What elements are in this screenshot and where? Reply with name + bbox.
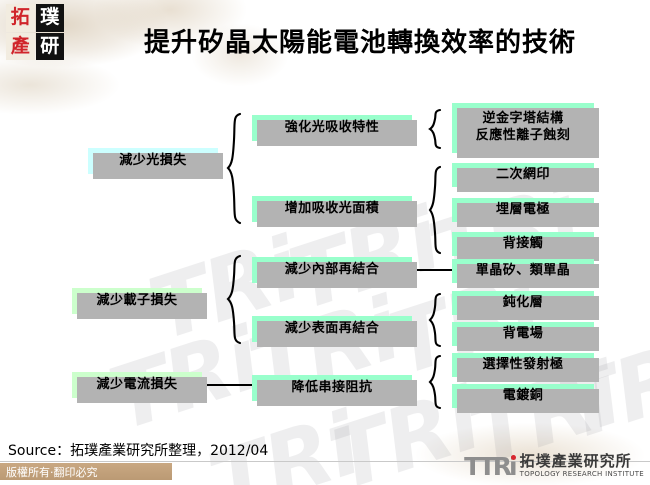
- node-reduce-carrier-loss[interactable]: 減少載子損失: [72, 288, 202, 314]
- brace-surface-recombination-group: [428, 292, 444, 348]
- node-buried-contact[interactable]: 埋層電極: [452, 198, 594, 222]
- tri-mark: TTRi: [464, 454, 515, 479]
- source-note: Source：拓璞產業研究所整理，2012/04: [8, 440, 268, 460]
- logo-cell-1: 拓: [6, 4, 35, 32]
- brace-absorption-area-group: [428, 165, 444, 255]
- node-reduce-series-resistance[interactable]: 降低串接阻抗: [252, 375, 412, 401]
- background-wash-top: [0, 0, 430, 120]
- node-line-1: 逆金字塔結構: [482, 111, 563, 128]
- tri-wordmark: 拓墣產業研究所 TOPOLOGY RESEARCH INSTITUTE: [520, 454, 644, 478]
- node-reduce-light-loss[interactable]: 減少光損失: [88, 148, 218, 174]
- node-reduce-bulk-recombination[interactable]: 減少內部再結合: [252, 257, 412, 283]
- connector-bulk-recombination: [413, 269, 453, 271]
- node-back-contact[interactable]: 背接觸: [452, 232, 594, 256]
- node-double-screen-print[interactable]: 二次網印: [452, 163, 594, 187]
- node-passivation-layer[interactable]: 鈍化層: [452, 291, 594, 315]
- brace-series-resistance-group: [428, 354, 444, 410]
- brace-carrier-loss: [226, 254, 244, 345]
- tri-mark-text: TTRi: [464, 452, 515, 481]
- node-increase-absorption-area[interactable]: 增加吸收光面積: [252, 196, 412, 222]
- node-mono-quasi-mono[interactable]: 單晶矽、類單晶: [452, 259, 594, 283]
- node-selective-emitter[interactable]: 選擇性發射極: [452, 353, 594, 377]
- tri-corner-logo: 拓 璞 產 研: [6, 4, 64, 60]
- node-line-2: 反應性離子蝕刻: [476, 128, 571, 145]
- copyright-banner: 版權所有‧翻印必究: [0, 463, 172, 480]
- node-copper-plating[interactable]: 電鍍銅: [452, 384, 594, 408]
- node-back-surface-field[interactable]: 背電場: [452, 322, 594, 346]
- tri-name-en: TOPOLOGY RESEARCH INSTITUTE: [520, 471, 644, 478]
- logo-cell-2: 璞: [36, 4, 65, 32]
- brace-inverted-pyramid-group: [428, 108, 444, 150]
- brace-light-loss: [226, 112, 244, 225]
- copyright-text: 版權所有‧翻印必究: [0, 464, 98, 480]
- node-reduce-current-loss[interactable]: 減少電流損失: [72, 372, 202, 398]
- slide-canvas: TRi TRi TRi TRi TRi TRi TRi TRi TRi TRi …: [0, 0, 650, 485]
- node-inverted-pyramid-rie[interactable]: 逆金字塔結構 反應性離子蝕刻: [452, 103, 594, 153]
- page-title: 提升矽晶太陽能電池轉換效率的技術: [100, 22, 620, 59]
- node-enhance-light-absorption[interactable]: 強化光吸收特性: [252, 115, 412, 141]
- tri-name-cn: 拓墣產業研究所: [520, 454, 644, 469]
- logo-cell-4: 研: [36, 33, 65, 61]
- node-reduce-surface-recombination[interactable]: 減少表面再結合: [252, 316, 412, 342]
- tri-accent-dot: [511, 455, 516, 460]
- logo-cell-3: 產: [6, 33, 35, 61]
- tri-footer-logo: TTRi 拓墣產業研究所 TOPOLOGY RESEARCH INSTITUTE: [464, 452, 644, 480]
- connector-current-loss: [206, 384, 252, 386]
